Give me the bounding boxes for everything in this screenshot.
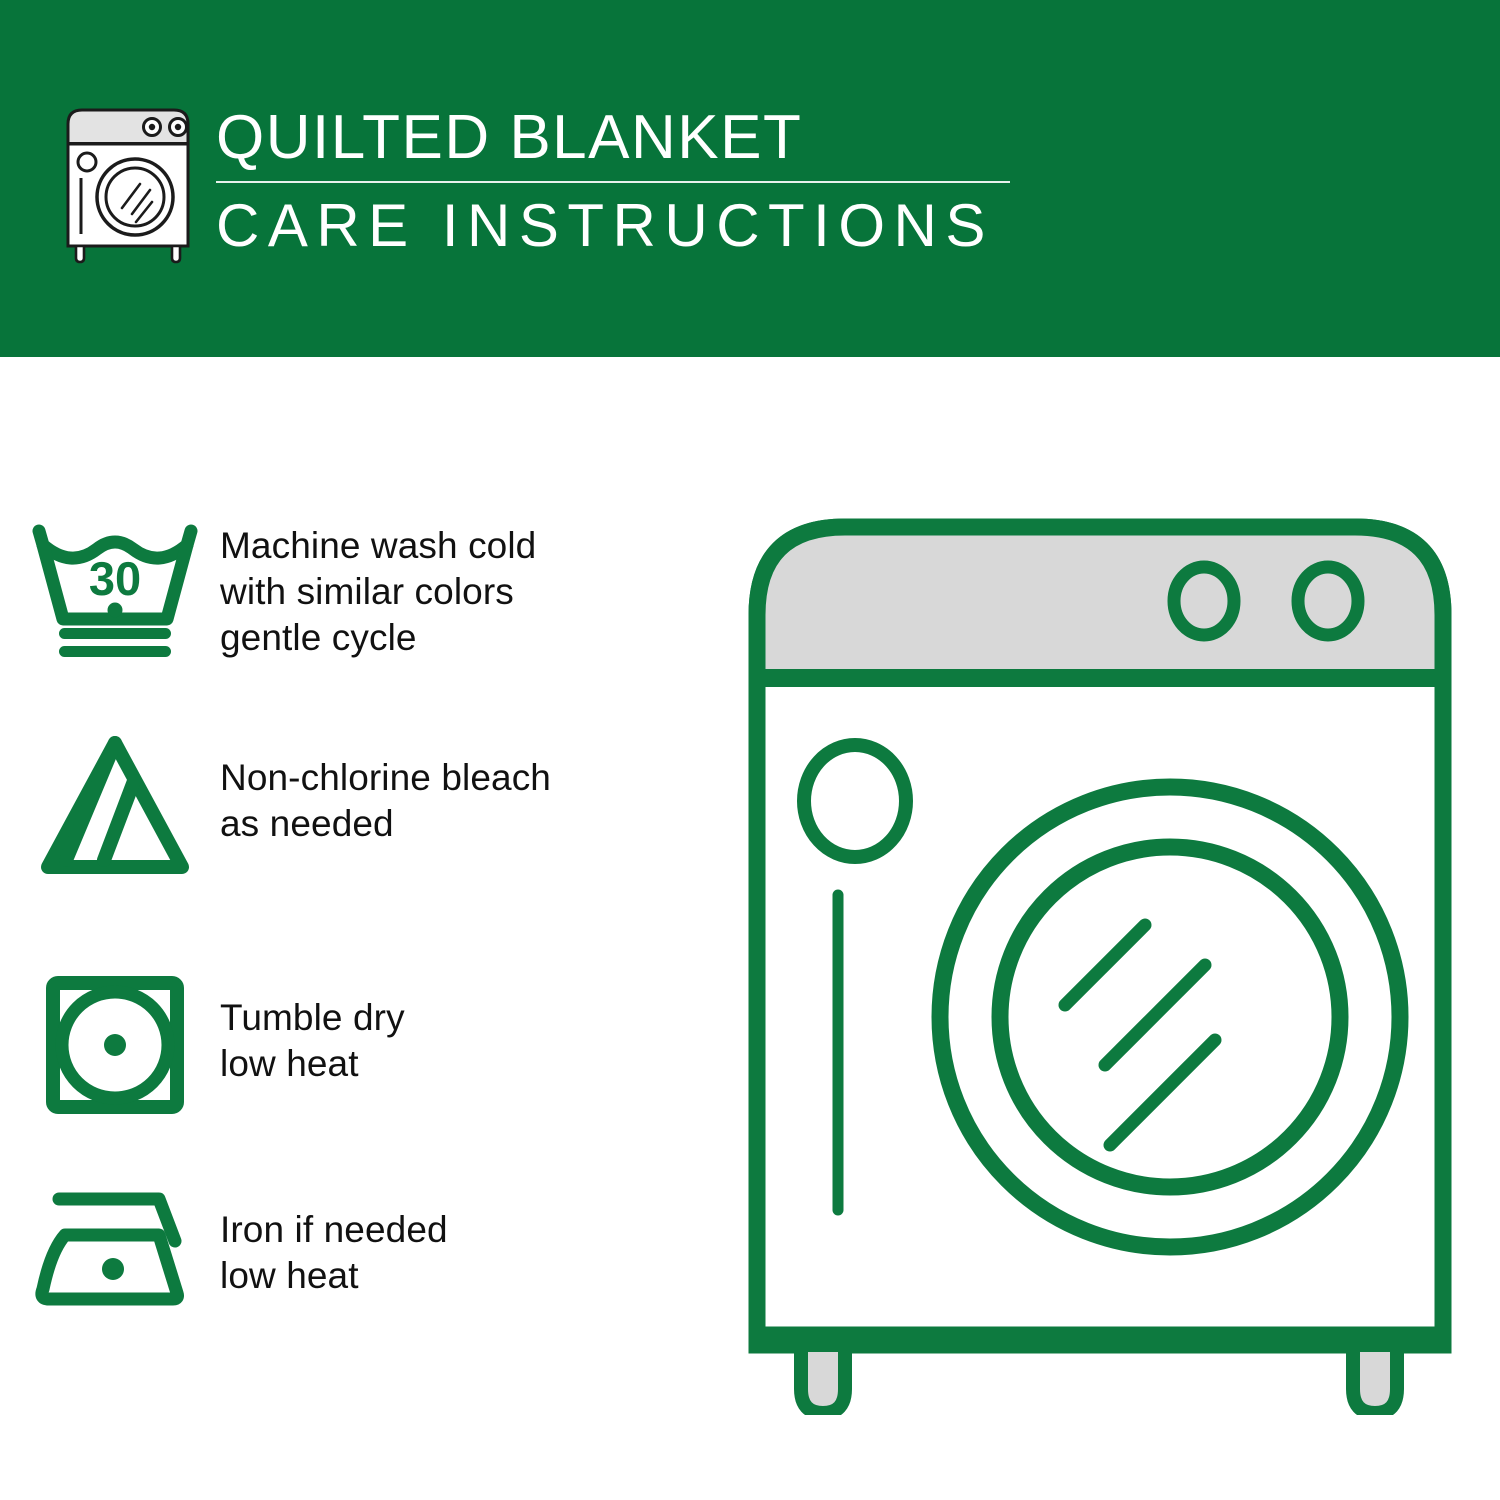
header-banner: QUILTED BLANKET CARE INSTRUCTIONS: [0, 0, 1500, 357]
non-chlorine-bleach-triangle-icon: [0, 725, 220, 885]
care-row-bleach: Non-chlorine bleach as needed: [0, 725, 740, 885]
care-label: Tumble dry low heat: [220, 965, 405, 1087]
iron-low-heat-icon: [0, 1185, 220, 1315]
care-instructions-page: QUILTED BLANKET CARE INSTRUCTIONS 30: [0, 0, 1500, 1500]
header-text-block: QUILTED BLANKET CARE INSTRUCTIONS: [216, 103, 1016, 259]
care-instruction-list: 30 Machine wash cold with similar colors…: [0, 357, 740, 1500]
care-row-machine-wash: 30 Machine wash cold with similar colors…: [0, 515, 740, 665]
care-row-iron: Iron if needed low heat: [0, 1185, 740, 1315]
care-label: Non-chlorine bleach as needed: [220, 725, 551, 847]
wash-tub-30-gentle-icon: 30: [0, 515, 220, 665]
care-row-tumble-dry: Tumble dry low heat: [0, 965, 740, 1125]
front-load-washing-machine-illustration: [745, 505, 1455, 1415]
wash-temperature-value: 30: [89, 552, 141, 605]
page-title: QUILTED BLANKET: [216, 103, 1016, 173]
page-subtitle: CARE INSTRUCTIONS: [216, 193, 1016, 259]
care-label: Iron if needed low heat: [220, 1185, 448, 1299]
washing-machine-icon: [62, 104, 194, 264]
care-label: Machine wash cold with similar colors ge…: [220, 515, 536, 661]
title-divider: [216, 181, 1010, 183]
tumble-dry-low-heat-icon: [0, 965, 220, 1125]
